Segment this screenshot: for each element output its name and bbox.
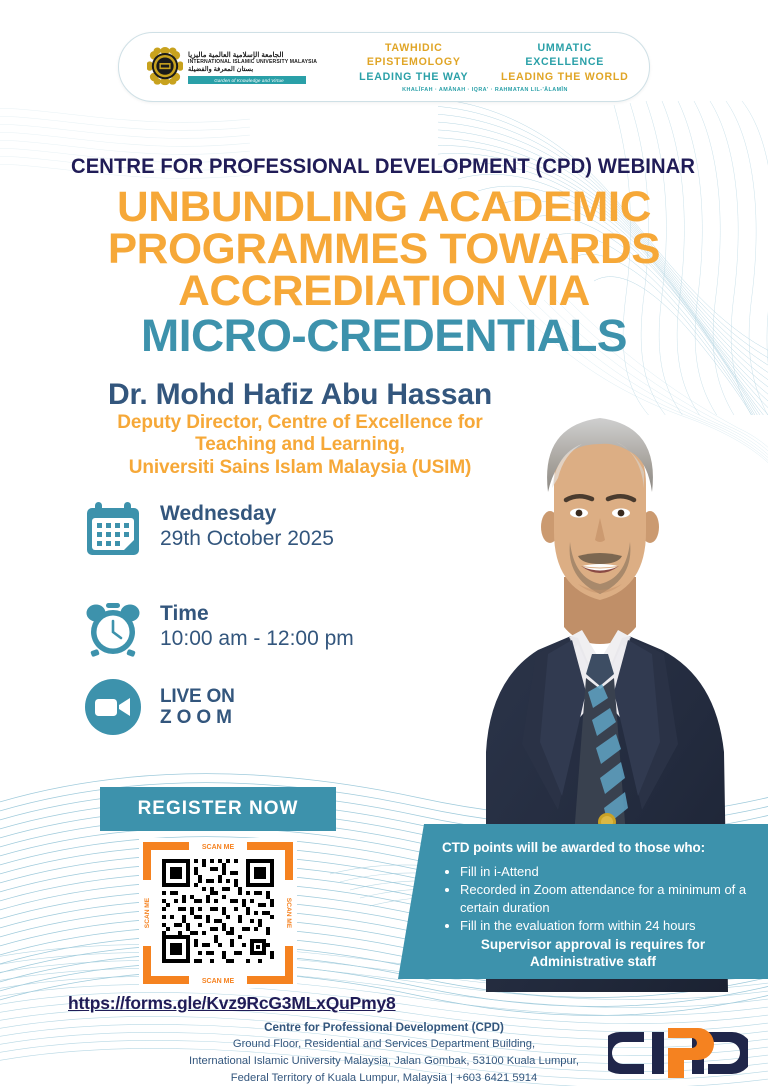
time-heading: Time	[160, 602, 354, 626]
alarm-clock-icon	[84, 600, 142, 658]
speaker-role: Deputy Director, Centre of Excellence fo…	[0, 412, 600, 479]
ctd-requirements-list: Fill in i-Attend Recorded in Zoom attend…	[460, 863, 752, 934]
iium-name-english: INTERNATIONAL ISLAMIC UNIVERSITY MALAYSI…	[188, 59, 317, 66]
registration-qr-code[interactable]: SCAN ME SCAN ME SCAN ME SCAN ME	[139, 838, 297, 988]
calendar-icon	[84, 500, 142, 558]
speaker-name: Dr. Mohd Hafiz Abu Hassan	[0, 378, 600, 412]
ctd-points-panel: CTD points will be awarded to those who:…	[398, 824, 768, 979]
ctd-panel-title: CTD points will be awarded to those who:	[442, 840, 752, 855]
page-title: UNBUNDLING ACADEMIC PROGRAMMES TOWARDS A…	[0, 186, 768, 358]
time-value: 10:00 am - 12:00 pm	[160, 626, 354, 652]
qr-scan-label-top: SCAN ME	[202, 844, 235, 851]
date-info-row: Wednesday 29th October 2025	[84, 500, 334, 558]
webinar-poster: الجامعة الإسلامية العالمية ماليزيا INTER…	[0, 0, 768, 1086]
list-item: Fill in i-Attend	[460, 863, 752, 880]
qr-scan-label-left: SCAN ME	[144, 897, 151, 928]
title-line-4: MICRO-CREDENTIALS	[0, 314, 768, 358]
iium-ribbon-label: Garden of Knowledge and Virtue	[188, 76, 306, 84]
platform-info-row: LIVE ON ZOOM	[84, 678, 237, 736]
speaker-role-line-2: Teaching and Learning,	[0, 434, 600, 456]
cpd-logo	[608, 1026, 748, 1080]
register-now-button[interactable]: REGISTER NOW	[100, 787, 336, 831]
iium-wordmark: الجامعة الإسلامية العالمية ماليزيا INTER…	[188, 50, 323, 85]
slogan-leading-the-way: LEADING THE WAY	[341, 70, 487, 84]
slogan-leading-the-world: LEADING THE WORLD	[501, 70, 629, 84]
page-kicker: CENTRE FOR PROFESSIONAL DEVELOPMENT (CPD…	[71, 154, 695, 179]
iium-name-arabic: الجامعة الإسلامية العالمية ماليزيا	[188, 50, 284, 59]
date-value: 29th October 2025	[160, 526, 334, 552]
registration-form-link[interactable]: https://forms.gle/Kvz9RcG3MLxQuPmy8	[68, 993, 396, 1014]
qr-scan-label-right: SCAN ME	[285, 898, 292, 929]
platform-line-1: LIVE ON	[160, 687, 237, 708]
iium-header-banner: الجامعة الإسلامية العالمية ماليزيا INTER…	[118, 32, 650, 102]
speaker-role-line-1: Deputy Director, Centre of Excellence fo…	[0, 412, 600, 434]
iium-slogan: TAWHIDIC EPISTEMOLOGY LEADING THE WAY UM…	[341, 41, 649, 93]
ctd-note-line-1: Supervisor approval is requires for	[442, 937, 744, 954]
list-item: Fill in the evaluation form within 24 ho…	[460, 917, 752, 934]
qr-scan-label-bottom: SCAN ME	[202, 978, 235, 985]
qr-matrix	[158, 855, 278, 971]
ctd-supervisor-note: Supervisor approval is requires for Admi…	[442, 937, 752, 971]
time-info-row: Time 10:00 am - 12:00 pm	[84, 600, 354, 658]
ctd-note-line-2: Administrative staff	[442, 954, 744, 971]
iium-crest-icon	[147, 47, 183, 87]
title-line-1: UNBUNDLING ACADEMIC	[0, 186, 768, 228]
list-item: Recorded in Zoom attendance for a minimu…	[460, 881, 752, 916]
iium-motto-arabic: بستان المعرفة والفضيلة	[188, 66, 253, 75]
title-line-3: ACCREDIATION VIA	[0, 270, 768, 312]
slogan-ummatic-excellence: UMMATIC EXCELLENCE	[501, 41, 629, 70]
video-camera-icon	[84, 678, 142, 736]
platform-line-2: ZOOM	[160, 708, 237, 729]
slogan-values-line: KHALĪFAH · AMĀNAH · IQRA' · RAHMATAN LIL…	[341, 87, 629, 93]
slogan-tawhidic-epistemology: TAWHIDIC EPISTEMOLOGY	[341, 41, 487, 70]
title-line-2: PROGRAMMES TOWARDS	[0, 228, 768, 270]
speaker-role-line-3: Universiti Sains Islam Malaysia (USIM)	[0, 457, 600, 479]
date-heading: Wednesday	[160, 502, 334, 526]
